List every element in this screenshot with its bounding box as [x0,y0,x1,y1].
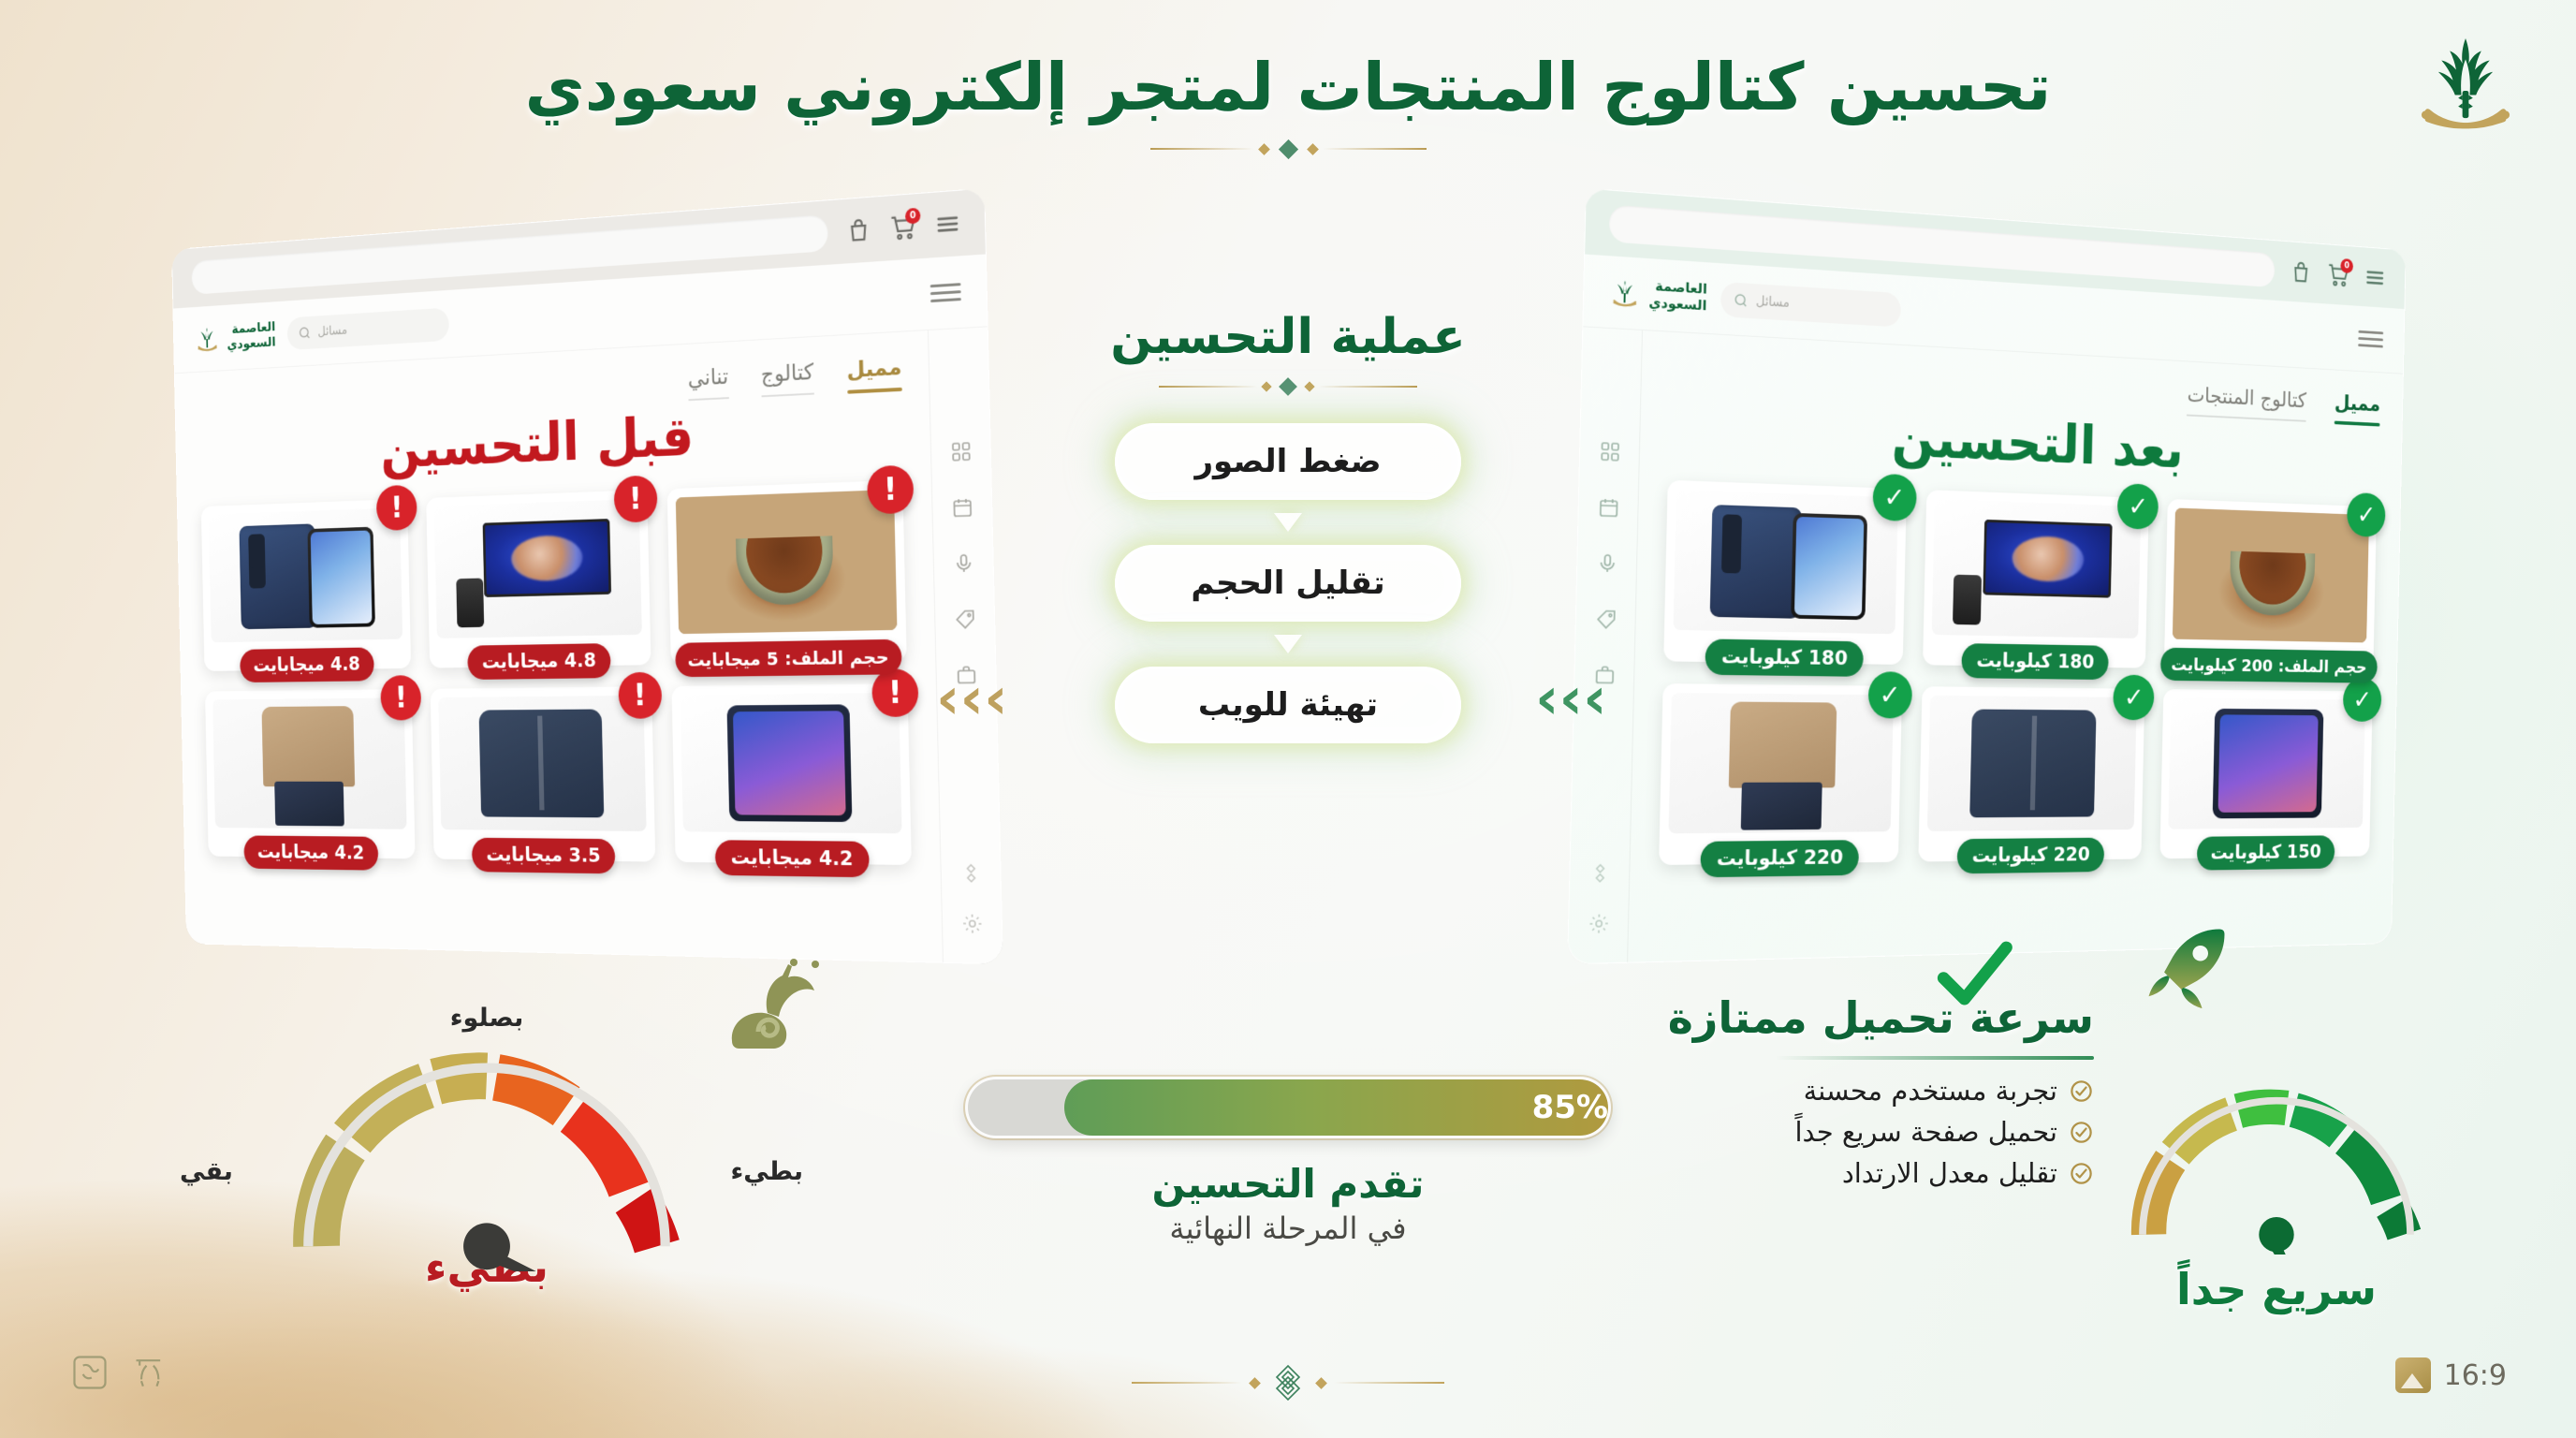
process-steps: ضغط الصور تقليل الحجم تهيئة للويب [998,423,1578,743]
check-icon: ✓ [1867,671,1912,718]
product-image-monitor [434,499,642,638]
result-benefit-list: تجربة مستخدم محسنة تحميل صفحة سريع جداً … [1514,1075,2094,1189]
calendar-icon[interactable] [951,496,973,520]
list-item: تجربة مستخدم محسنة [1514,1075,2094,1107]
rocket-icon [2144,922,2230,1012]
product-image-blue-phone [680,693,901,833]
product-image-jacket [1927,696,2137,831]
map-frame-icon [69,1352,110,1393]
brand-line-2: السعودي [227,334,275,352]
product-image-blue-phone [2169,697,2365,829]
tag-icon[interactable] [1595,608,1617,630]
file-size-badge: حجم الملف: 5 ميجابايت [675,639,901,678]
list-item: تحميل صفحة سريع جداً [1514,1116,2094,1148]
site-menu-icon[interactable] [930,283,961,302]
bag-icon[interactable] [2290,259,2313,286]
footer-ornament [1129,1363,1447,1402]
warning-icon: ! [376,485,417,532]
page-header: تحسين كتالوج المنتجات لمتجر إلكتروني سعو… [0,0,2576,215]
search-icon [298,325,312,341]
brand-line-2: السعودي [1648,294,1706,314]
search-input-after[interactable]: مسائل [1720,281,1901,327]
product-image-thobe [1668,693,1893,833]
saudi-emblem-icon [1609,276,1641,310]
product-card[interactable]: ✓ 220 كيلوبايت [1659,683,1902,865]
cart-icon[interactable]: 0 [2327,261,2349,288]
optimization-process-section: عملية التحسين ضغط الصور تقليل الحجم تهيئ… [998,309,1578,743]
benefit-label: تحميل صفحة سريع جداً [1795,1116,2058,1148]
file-size-badge: حجم الملف: 200 كيلوبايت [2160,648,2378,683]
check-icon: ✓ [2343,678,2382,722]
menu-icon[interactable] [2364,264,2386,291]
settings-gear-icon[interactable] [1588,912,1610,934]
grid-icon[interactable] [1599,440,1621,463]
result-summary: سرعة تحميل ممتازة تجربة مستخدم محسنة تحم… [1514,992,2094,1198]
product-card[interactable]: ✓ 180 كيلوبايت [1923,490,2149,668]
check-icon: ✓ [2117,483,2159,530]
product-card[interactable]: ! 4.8 ميجابايت [201,499,412,671]
check-icon: ✓ [2347,492,2386,537]
check-circle-icon [2069,1120,2094,1145]
check-circle-icon [2069,1161,2094,1186]
gauge-caption-after: سريع جداً [2099,1264,2454,1314]
warning-icon: ! [618,672,662,719]
chevron-glyph: ››› [936,669,1008,727]
microphone-icon[interactable] [1596,552,1618,576]
tab-after-0[interactable]: مميل [2334,390,2381,426]
tab-before-0[interactable]: مميل [846,354,902,393]
ornament-icon [959,862,982,885]
tag-icon[interactable] [954,608,976,630]
product-card[interactable]: ✓ حجم الملف: 200 كيلوبايت [2164,499,2377,671]
product-card[interactable]: ! 4.2 ميجابايت [205,689,416,858]
file-size-badge: 3.5 ميجابايت [472,838,616,874]
settings-gear-icon[interactable] [960,912,983,934]
tab-before-2[interactable]: تناني [687,363,728,402]
product-card[interactable]: ! حجم الملف: 5 ميجابايت [666,480,906,665]
chevron-glyph: ››› [1535,669,1607,727]
tab-before-1[interactable]: كتالوج [760,359,813,398]
product-image-monitor [1931,499,2141,638]
title-ornament [1138,139,1438,159]
site-brand-before: العاصمة السعودي [194,320,275,354]
product-image-phones [209,507,403,642]
product-image-dates [2173,507,2369,642]
site-brand-after: العاصمة السعودي [1609,275,1707,314]
warning-icon: ! [867,464,915,514]
warning-icon: ! [613,475,657,522]
product-card[interactable]: ✓ 220 كيلوبايت [1918,686,2145,861]
gauge-dial-after [2122,1077,2431,1255]
panel-body-after: مميل كتالوج المنتجات بعد التحسين ✓ حجم ا… [1568,327,2403,963]
calendar-icon[interactable] [1597,496,1619,520]
check-icon [1934,936,2014,1017]
hanging-lamp-icon [131,1352,172,1393]
product-card[interactable]: ✓ 180 كيلوبايت [1663,480,1906,665]
gauge-tick-left: بقي [180,1157,233,1186]
cart-icon[interactable]: 0 [889,213,916,242]
check-icon: ✓ [2113,675,2155,721]
ornament-icon [1588,862,1611,885]
load-speed-gauge-after: سريع جداً [2099,1077,2454,1314]
gauge-dial-before [281,1037,693,1271]
aspect-ratio-label: 16:9 [2444,1359,2507,1392]
tab-after-1[interactable]: كتالوج المنتجات [2187,383,2306,423]
panel-body-before: مميل كتالوج تناني قبل التحسين ! حجم المل… [175,327,1003,963]
process-step-3[interactable]: تهيئة للويب [1115,667,1461,743]
image-placeholder-icon [2395,1357,2431,1393]
site-menu-icon[interactable] [2358,330,2383,348]
product-card[interactable]: ! 4.8 ميجابايت [426,490,651,668]
gauge-tick-right: بطيء [730,1157,803,1186]
benefit-label: تجربة مستخدم محسنة [1804,1075,2057,1107]
cart-count-badge: 0 [2340,258,2353,273]
search-placeholder-before: مسائل [317,323,347,339]
load-speed-gauge-before: بصلوء بقي بطيء [281,1020,693,1292]
file-size-badge: 4.8 ميجابايت [467,643,611,680]
product-image-jacket [439,696,647,831]
product-card[interactable]: ! 3.5 ميجابايت [431,686,655,861]
check-icon: ✓ [1872,474,1917,522]
file-size-badge: 150 كيلوبايت [2196,835,2334,870]
result-divider [1776,1056,2094,1060]
search-input-before[interactable]: مسائل [287,307,449,350]
product-grid-after: ✓ حجم الملف: 200 كيلوبايت ✓ 180 كيلوبايت… [1653,479,2380,865]
product-image-thobe [212,697,407,829]
file-size-badge: 4.8 ميجابايت [240,647,374,682]
panel-content-before: مميل كتالوج تناني قبل التحسين ! حجم المل… [175,330,943,962]
warning-icon: ! [871,668,919,717]
before-optimization-panel[interactable]: 0 مسائل العاصمة السعودي [171,188,1003,965]
list-item: تقليل معدل الارتداد [1514,1157,2094,1189]
file-size-badge: 4.2 ميجابايت [243,835,378,870]
chevron-right-icon-green: ››› [1535,669,1607,727]
chevron-right-icon-gold: ››› [936,669,1008,727]
check-circle-icon [2069,1078,2094,1104]
after-optimization-panel[interactable]: 0 مسائل العاصمة السعودي [1567,188,2407,965]
warning-icon: ! [380,675,421,720]
file-size-badge: 220 كيلوبايت [1701,840,1859,877]
footer-decorative-icons [69,1352,172,1393]
product-card[interactable]: ! 4.2 ميجابايت [671,683,912,865]
product-card[interactable]: ✓ 150 كيلوبايت [2160,689,2373,858]
browser-window-before: 0 مسائل العاصمة السعودي [171,188,1003,965]
saudi-emblem-icon [2413,30,2518,135]
arabesque-icon [1267,1362,1309,1403]
benefit-label: تقليل معدل الارتداد [1842,1157,2057,1189]
flow-arrow-icon [1274,635,1302,653]
process-title: عملية التحسين [998,309,1578,365]
page-title: تحسين كتالوج المنتجات لمتجر إلكتروني سعو… [0,49,2576,125]
progress-subtitle: في المرحلة النهائية [965,1211,1611,1246]
panel-content-after: مميل كتالوج المنتجات بعد التحسين ✓ حجم ا… [1628,330,2403,962]
file-size-badge: 180 كيلوبايت [1705,638,1864,676]
aspect-ratio-badge: 16:9 [2395,1357,2507,1393]
gauge-tick-top: بصلوء [450,1004,524,1033]
product-image-dates [675,490,897,634]
product-image-phones [1674,490,1898,634]
snail-icon [721,959,833,1062]
browser-window-after: 0 مسائل العاصمة السعودي [1567,188,2407,965]
saudi-emblem-icon [194,324,219,354]
flow-arrow-icon [1274,513,1302,532]
microphone-icon[interactable] [952,552,974,576]
search-placeholder-after: مسائل [1756,294,1790,311]
search-icon [1734,291,1749,309]
process-ornament [1148,378,1428,395]
file-size-badge: 180 كيلوبايت [1961,643,2109,680]
file-size-badge: 4.2 ميجابايت [715,840,870,877]
bag-icon[interactable] [845,215,872,244]
file-size-badge: 220 كيلوبايت [1956,838,2104,874]
process-step-1[interactable]: ضغط الصور [1115,423,1461,500]
process-step-2[interactable]: تقليل الحجم [1115,545,1461,622]
product-grid-before: ! حجم الملف: 5 ميجابايت ! 4.8 ميجابايت !… [197,479,917,865]
grid-icon[interactable] [949,440,972,463]
